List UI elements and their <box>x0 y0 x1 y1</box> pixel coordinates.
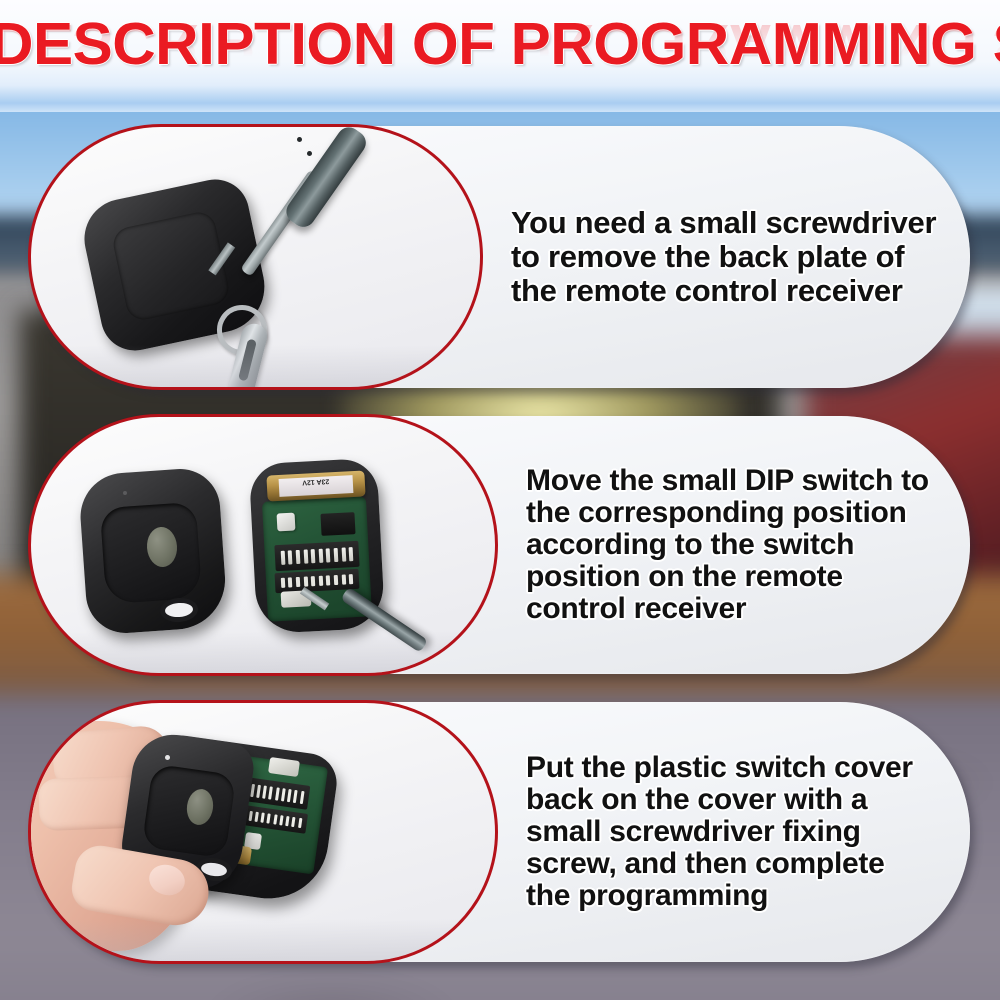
dip-pin <box>281 788 286 801</box>
header-band: DESCRIPTION OF PROGRAMMING STEPS DESCRIP… <box>0 0 1000 112</box>
step-2-line-1: Move the small DIP switch to <box>526 465 929 497</box>
dip-pin <box>275 787 280 800</box>
dip-pin <box>334 548 339 562</box>
step-2-line-4: position on the remote <box>526 561 929 593</box>
infographic-page: DESCRIPTION OF PROGRAMMING STEPS DESCRIP… <box>0 0 1000 1000</box>
dip-pin <box>291 817 295 827</box>
dip-pin <box>303 577 308 587</box>
dip-pin <box>311 549 316 563</box>
step-3-line-4: screw, and then complete <box>526 848 913 880</box>
screwdriver-handle-hole <box>307 151 312 156</box>
dip-pin <box>293 789 298 802</box>
title-block: DESCRIPTION OF PROGRAMMING STEPS DESCRIP… <box>0 14 1000 112</box>
dip-pin <box>279 815 283 825</box>
step-3-text: Put the plastic switch cover back on the… <box>526 752 913 912</box>
dip-pin <box>285 816 289 826</box>
step-1-text-area: You need a small screwdriver to remove t… <box>483 126 970 388</box>
dip-pin <box>334 575 339 585</box>
step-3-line-5: the programming <box>526 880 913 912</box>
dip-pin <box>262 785 267 798</box>
step-panel-3: Put the plastic switch cover back on the… <box>30 702 970 962</box>
step-1-line-1: You need a small screwdriver <box>511 206 936 240</box>
step-panel-2: 23A 12V <box>30 416 970 674</box>
dip-pin <box>287 789 292 802</box>
surface-shadow <box>31 345 480 387</box>
remote-led <box>123 491 127 495</box>
dip-pin <box>280 578 285 588</box>
dip-pin <box>349 547 354 561</box>
step-3-line-1: Put the plastic switch cover <box>526 752 913 784</box>
step-2-line-2: the corresponding position <box>526 497 929 529</box>
open-remote-dip-switch-photo: 23A 12V <box>28 414 498 676</box>
dip-pin <box>298 818 302 828</box>
dip-pin <box>303 550 308 564</box>
step-2-text: Move the small DIP switch to the corresp… <box>526 465 929 625</box>
step-1-text: You need a small screwdriver to remove t… <box>511 206 936 308</box>
dip-pin <box>268 786 273 799</box>
step-2-line-5: control receiver <box>526 593 929 625</box>
remote-and-screwdriver-photo <box>28 124 483 390</box>
dip-pin <box>256 784 261 797</box>
dip-pin <box>326 548 331 562</box>
dip-pin <box>267 813 271 823</box>
dip-switch-bank <box>274 541 359 571</box>
dip-pin <box>260 813 264 823</box>
step-3-line-3: small screwdriver fixing <box>526 816 913 848</box>
step-2-text-area: Move the small DIP switch to the corresp… <box>498 416 970 674</box>
dip-pin <box>318 576 323 586</box>
dip-pin <box>341 575 346 585</box>
step-3-text-area: Put the plastic switch cover back on the… <box>498 702 970 962</box>
screwdriver-handle <box>282 124 371 232</box>
dip-pin <box>288 550 293 564</box>
dip-pin <box>288 577 293 587</box>
step-2-line-3: according to the switch <box>526 529 929 561</box>
dip-pin <box>273 814 277 824</box>
hand-holding-remote-photo <box>28 700 498 964</box>
ic-chip <box>320 512 355 536</box>
tact-switch <box>277 513 296 532</box>
dip-pin <box>311 576 316 586</box>
dip-pin <box>326 575 331 585</box>
dip-pin <box>341 548 346 562</box>
dip-pin <box>248 811 252 821</box>
surface-shadow <box>31 919 495 961</box>
step-3-line-2: back on the cover with a <box>526 784 913 816</box>
dip-pin <box>318 549 323 563</box>
dip-pin <box>280 551 285 565</box>
remote-led <box>165 755 170 760</box>
dip-pin <box>299 790 304 803</box>
dip-pin <box>296 550 301 564</box>
dip-pin <box>296 577 301 587</box>
screwdriver-handle-hole <box>297 137 302 142</box>
dip-pin <box>254 812 258 822</box>
dip-pin <box>349 574 354 584</box>
step-panel-1: You need a small screwdriver to remove t… <box>30 126 970 388</box>
step-1-line-2: to remove the back plate of <box>511 240 936 274</box>
step-1-line-3: the remote control receiver <box>511 274 936 308</box>
surface-shadow <box>31 631 495 673</box>
page-title-reflection: DESCRIPTION OF PROGRAMMING STEPS <box>0 15 1000 75</box>
